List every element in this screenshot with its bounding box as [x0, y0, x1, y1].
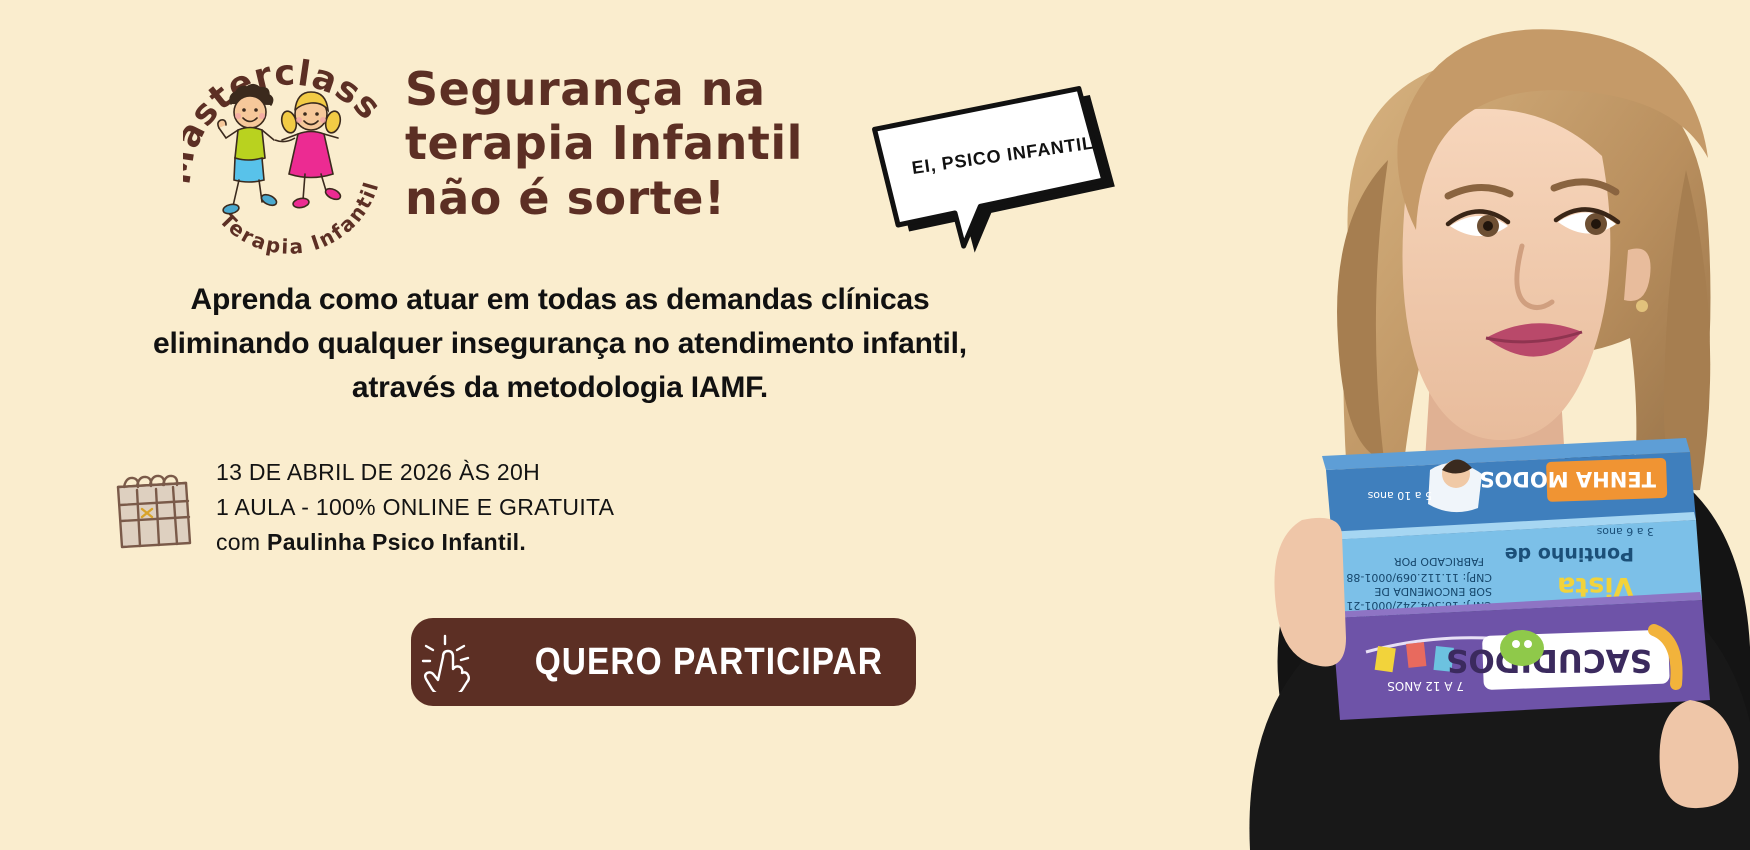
event-date: 13 DE ABRIL DE 2026 ÀS 20H [216, 455, 614, 490]
event-info-lines: 13 DE ABRIL DE 2026 ÀS 20H 1 AULA - 100%… [216, 455, 614, 560]
click-hand-icon [421, 632, 477, 692]
svg-text:Terapia Infantil: Terapia Infantil [215, 178, 384, 257]
svg-text:TENHA MODOS: TENHA MODOS [1479, 467, 1656, 491]
svg-text:FABRICADO POR: FABRICADO POR [1394, 555, 1484, 568]
svg-text:Pontinho de: Pontinho de [1505, 543, 1634, 565]
logo-bottom-arc-text: Terapia Infantil [215, 178, 384, 257]
subtitle-line-1: Aprenda como atuar em todas as demandas … [60, 278, 1060, 322]
event-host-prefix: com [216, 529, 267, 555]
subtitle-line-2: eliminando qualquer insegurança no atend… [60, 322, 1060, 366]
headline-line-3: não é sorte! [405, 171, 825, 225]
speech-bubble [868, 100, 1108, 260]
headline-line-1: Segurança na [405, 62, 825, 116]
girl-illustration [280, 92, 343, 209]
headline: Segurança na terapia Infantil não é sort… [405, 62, 825, 225]
svg-text:3 a 6 anos: 3 a 6 anos [1596, 525, 1654, 538]
subtitle: Aprenda como atuar em todas as demandas … [60, 278, 1060, 409]
calendar-icon [108, 461, 200, 553]
svg-text:7 A 12 ANOS: 7 A 12 ANOS [1387, 679, 1464, 693]
quero-participar-button[interactable]: QUERO PARTICIPAR [411, 618, 916, 706]
box-bottom: 7 A 12 ANOS SACUDIDOS [1330, 592, 1710, 720]
event-info-block: 13 DE ABRIL DE 2026 ÀS 20H 1 AULA - 100%… [108, 455, 614, 560]
event-host: com Paulinha Psico Infantil. [216, 525, 614, 560]
promo-banner: Masterclass Terapia Infantil [0, 0, 1750, 850]
masterclass-logo: Masterclass Terapia Infantil [183, 42, 393, 257]
svg-text:5 a 10 anos: 5 a 10 anos [1367, 489, 1432, 502]
svg-text:CNPJ: 11.112.069/0001-88: CNPJ: 11.112.069/0001-88 [1346, 571, 1492, 584]
event-format: 1 AULA - 100% ONLINE E GRATUITA [216, 490, 614, 525]
presenter-photo: TENHA MODOS 5 a 10 anos FABRICADO POR CN… [1130, 0, 1750, 850]
event-host-name: Paulinha Psico Infantil. [267, 529, 526, 555]
subtitle-line-3: através da metodologia IAMF. [60, 366, 1060, 410]
svg-text:SOB ENCOMENDA DE: SOB ENCOMENDA DE [1374, 585, 1492, 598]
cta-button-label: QUERO PARTICIPAR [534, 641, 882, 684]
headline-line-2: terapia Infantil [405, 116, 825, 170]
svg-text:SACUDIDOS: SACUDIDOS [1446, 642, 1652, 678]
